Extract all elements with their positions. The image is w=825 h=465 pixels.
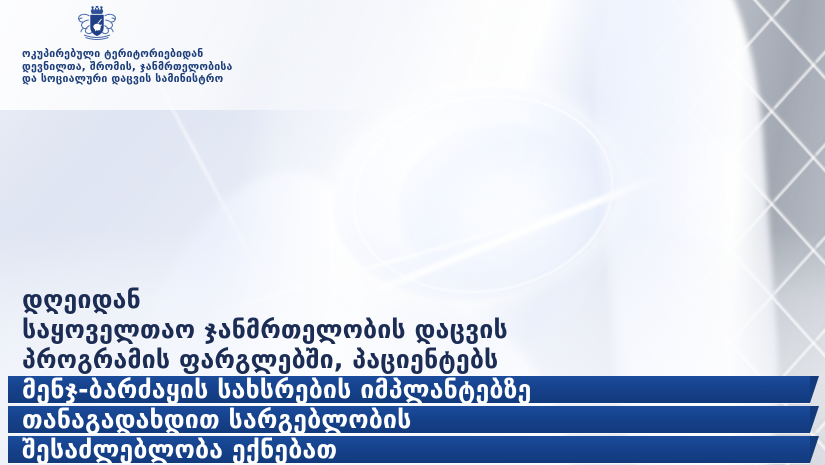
hip-implant-cup-outer	[317, 67, 637, 322]
ministry-header: ოკუპირებული ტერიტორიებიდან დევნილთა, შრო…	[22, 6, 352, 86]
headline-plain-line-1: დღეიდან	[0, 285, 825, 315]
headline-plain-line-2: საყოველთაო ჯანმრთელობის დაცვის	[0, 315, 825, 345]
headline-plain-line-3: პროგრამის ფარგლებში, პაციენტებს	[0, 345, 825, 375]
hip-implant-cup-inner	[387, 109, 610, 298]
ministry-name-line-3: და სოციალური დაცვის სამინისტრო	[22, 73, 352, 86]
headline-highlight-line-3: შესაძლებლობა ექნებათ	[0, 436, 825, 463]
headline-highlight-row-1: მენჯ-ბარძაყის სახსრების იმპლანტებზე	[0, 376, 825, 405]
ministry-name-line-2: დევნილთა, შრომის, ჯანმრთელობისა	[22, 61, 352, 74]
headline-highlight-line-1: მენჯ-ბარძაყის სახსრების იმპლანტებზე	[0, 376, 825, 403]
lattice-highlight-glow	[630, 120, 770, 260]
ministry-name-line-1: ოკუპირებული ტერიტორიებიდან	[22, 48, 352, 61]
headline-block: დღეიდან საყოველთაო ჯანმრთელობის დაცვის პ…	[0, 285, 825, 465]
hip-implant-cup-rim	[338, 77, 627, 312]
headline-highlight-row-2: თანაგადახდით სარგებლობის	[0, 406, 825, 435]
headline-highlight-row-3: შესაძლებლობა ექნებათ	[0, 436, 825, 465]
headline-highlight-line-2: თანაგადახდით სარგებლობის	[0, 406, 825, 433]
georgia-coat-of-arms-icon	[68, 6, 126, 42]
broadcast-graphic: ოკუპირებული ტერიტორიებიდან დევნილთა, შრო…	[0, 0, 825, 465]
